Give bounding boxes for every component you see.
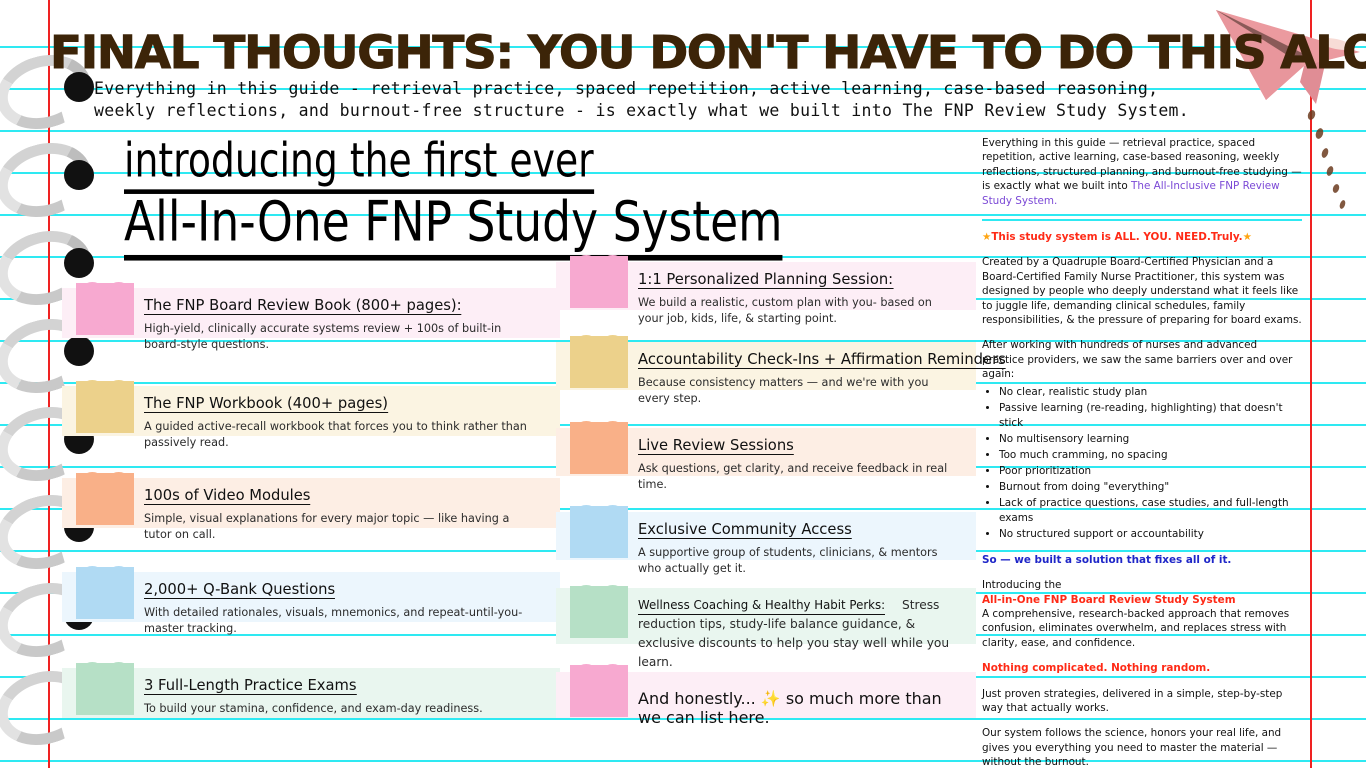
card-heading: 2,000+ Q-Bank Questions xyxy=(144,580,335,599)
card-description: A supportive group of students, clinicia… xyxy=(638,544,956,576)
right-introducing-label: Introducing the xyxy=(982,579,1061,591)
card-heading: Live Review Sessions xyxy=(638,436,794,455)
card-description: We build a realistic, custom plan with y… xyxy=(638,294,956,326)
star-icon: ★ xyxy=(1243,231,1252,243)
card-heading-row: 100s of Video Modules xyxy=(144,485,550,505)
right-divider xyxy=(982,219,1302,221)
barrier-item: Passive learning (re-reading, highlighti… xyxy=(999,401,1302,431)
barrier-item: Burnout from doing "everything" xyxy=(999,480,1302,495)
product-name-heading: All-In-One FNP Study System xyxy=(124,190,782,261)
card-heading: 100s of Video Modules xyxy=(144,486,310,505)
introducing-heading: introducing the first ever xyxy=(124,133,594,194)
feature-card[interactable]: 2,000+ Q-Bank QuestionsWith detailed rat… xyxy=(62,572,560,622)
feature-card[interactable]: Accountability Check-Ins + Affirmation R… xyxy=(556,342,976,390)
heart-icon xyxy=(76,381,134,433)
card-description: A guided active-recall workbook that for… xyxy=(144,418,538,450)
heart-icon xyxy=(570,506,628,558)
barriers-list: No clear, realistic study planPassive le… xyxy=(982,385,1302,542)
card-description: High-yield, clinically accurate systems … xyxy=(144,320,538,352)
card-heading: 3 Full-Length Practice Exams xyxy=(144,676,357,695)
spiral-ring-tip xyxy=(64,160,94,190)
spiral-ring-tip xyxy=(64,248,94,278)
card-heading: Accountability Check-Ins + Affirmation R… xyxy=(638,350,1006,369)
card-heading: The FNP Workbook (400+ pages) xyxy=(144,394,388,413)
card-body: Wellness Coaching & Healthy Habit Perks:… xyxy=(638,595,966,672)
card-heading-row: 1:1 Personalized Planning Session: xyxy=(638,269,966,289)
feature-card[interactable]: The FNP Workbook (400+ pages)A guided ac… xyxy=(62,386,560,436)
heart-icon xyxy=(570,422,628,474)
barrier-item: No multisensory learning xyxy=(999,432,1302,447)
right-created-by: Created by a Quadruple Board-Certified P… xyxy=(982,255,1302,327)
card-description: With detailed rationales, visuals, mnemo… xyxy=(144,604,538,636)
card-description: Simple, visual explanations for every ma… xyxy=(144,510,538,542)
card-heading: The FNP Board Review Book (800+ pages): xyxy=(144,296,462,315)
card-heading-row: 3 Full-Length Practice Exams xyxy=(144,675,550,695)
heart-icon xyxy=(570,586,628,638)
right-introducing-name: All-in-One FNP Board Review Study System xyxy=(982,594,1236,606)
right-approach: A comprehensive, research-backed approac… xyxy=(982,608,1289,649)
barrier-item: No clear, realistic study plan xyxy=(999,385,1302,400)
right-our-system: Our system follows the science, honors y… xyxy=(982,726,1302,769)
right-text-column: Everything in this guide — retrieval pra… xyxy=(982,136,1302,781)
feature-card[interactable]: Wellness Coaching & Healthy Habit Perks:… xyxy=(556,588,976,644)
card-heading: 1:1 Personalized Planning Session: xyxy=(638,270,893,289)
card-heading-row: Live Review Sessions xyxy=(638,435,966,455)
card-heading: Wellness Coaching & Healthy Habit Perks: xyxy=(638,595,885,615)
card-heading-row: Exclusive Community Access xyxy=(638,519,966,539)
heart-icon xyxy=(570,336,628,388)
feature-card[interactable]: Live Review SessionsAsk questions, get c… xyxy=(556,428,976,476)
card-description: Ask questions, get clarity, and receive … xyxy=(638,460,956,492)
right-introducing-block: Introducing the All-in-One FNP Board Rev… xyxy=(982,578,1302,650)
right-just-proven: Just proven strategies, delivered in a s… xyxy=(982,687,1302,716)
right-after-working: After working with hundreds of nurses an… xyxy=(982,338,1302,381)
feature-card[interactable]: 1:1 Personalized Planning Session:We bui… xyxy=(556,262,976,310)
barrier-item: Too much cramming, no spacing xyxy=(999,448,1302,463)
card-heading-row: Accountability Check-Ins + Affirmation R… xyxy=(638,349,966,369)
star-icon: ★ xyxy=(982,231,991,243)
star-line-text: This study system is ALL. YOU. NEED.Trul… xyxy=(991,231,1242,243)
right-nothing-line: Nothing complicated. Nothing random. xyxy=(982,661,1302,675)
feature-card[interactable]: 3 Full-Length Practice ExamsTo build you… xyxy=(62,668,560,718)
barrier-item: No structured support or accountability xyxy=(999,527,1302,542)
feature-card[interactable]: And honestly... ✨ so much more than we c… xyxy=(556,672,976,718)
page-title: FINAL THOUGHTS: YOU DON'T HAVE TO DO THI… xyxy=(50,26,1366,79)
heart-icon xyxy=(570,665,628,717)
heart-icon xyxy=(76,663,134,715)
card-heading-row: 2,000+ Q-Bank Questions xyxy=(144,579,550,599)
heart-icon xyxy=(570,256,628,308)
heart-icon xyxy=(76,473,134,525)
right-intro-paragraph: Everything in this guide — retrieval pra… xyxy=(982,136,1302,208)
feature-card[interactable]: The FNP Board Review Book (800+ pages):H… xyxy=(62,288,560,338)
heart-icon xyxy=(76,283,134,335)
card-description: Because consistency matters — and we're … xyxy=(638,374,956,406)
barrier-item: Lack of practice questions, case studies… xyxy=(999,496,1302,526)
feature-card[interactable]: 100s of Video ModulesSimple, visual expl… xyxy=(62,478,560,528)
right-solution-line: So — we built a solution that fixes all … xyxy=(982,553,1302,567)
heart-icon xyxy=(76,567,134,619)
closing-line: And honestly... ✨ so much more than we c… xyxy=(638,679,966,727)
feature-card[interactable]: Exclusive Community AccessA supportive g… xyxy=(556,512,976,560)
card-heading: Exclusive Community Access xyxy=(638,520,852,539)
spiral-ring-tip xyxy=(64,336,94,366)
card-heading-row: The FNP Board Review Book (800+ pages): xyxy=(144,295,550,315)
spiral-ring xyxy=(0,144,100,218)
barrier-item: Poor prioritization xyxy=(999,464,1302,479)
right-star-line: ★This study system is ALL. YOU. NEED.Tru… xyxy=(982,230,1302,244)
card-description: To build your stamina, confidence, and e… xyxy=(144,700,538,716)
card-heading-row: The FNP Workbook (400+ pages) xyxy=(144,393,550,413)
page-subtitle: Everything in this guide - retrieval pra… xyxy=(94,78,1214,122)
